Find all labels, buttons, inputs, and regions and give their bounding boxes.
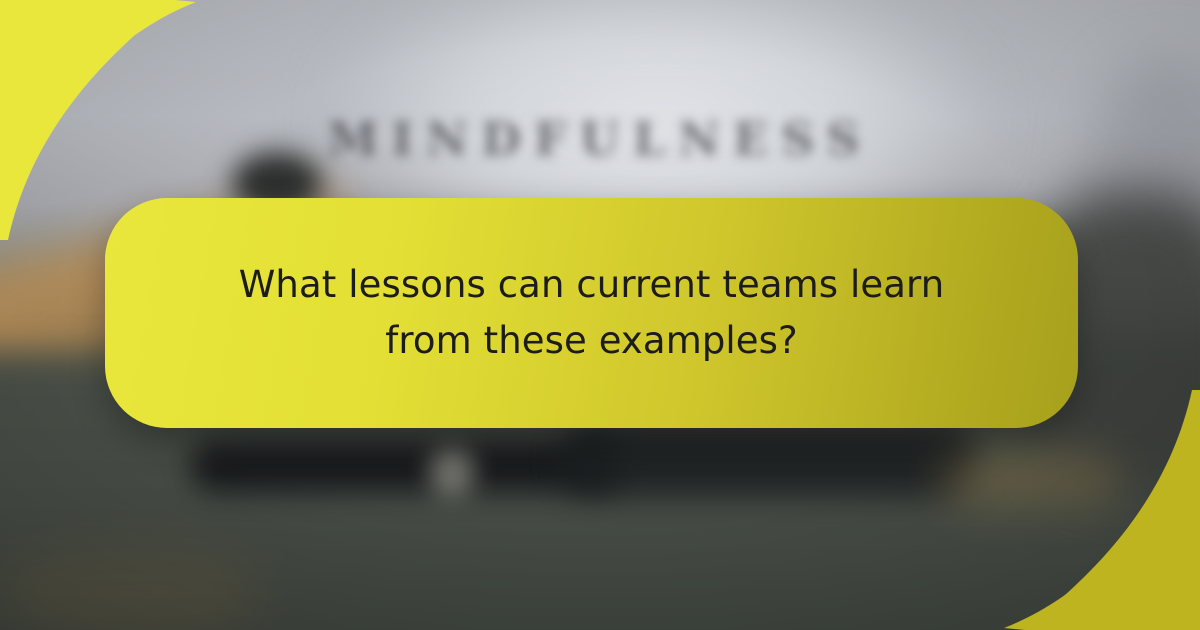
question-card[interactable]: What lessons can current teams learn fro…	[105, 198, 1078, 428]
screenshot-canvas: MINDFULNESS What lessons can current tea…	[0, 0, 1200, 630]
question-text: What lessons can current teams learn fro…	[222, 257, 962, 369]
